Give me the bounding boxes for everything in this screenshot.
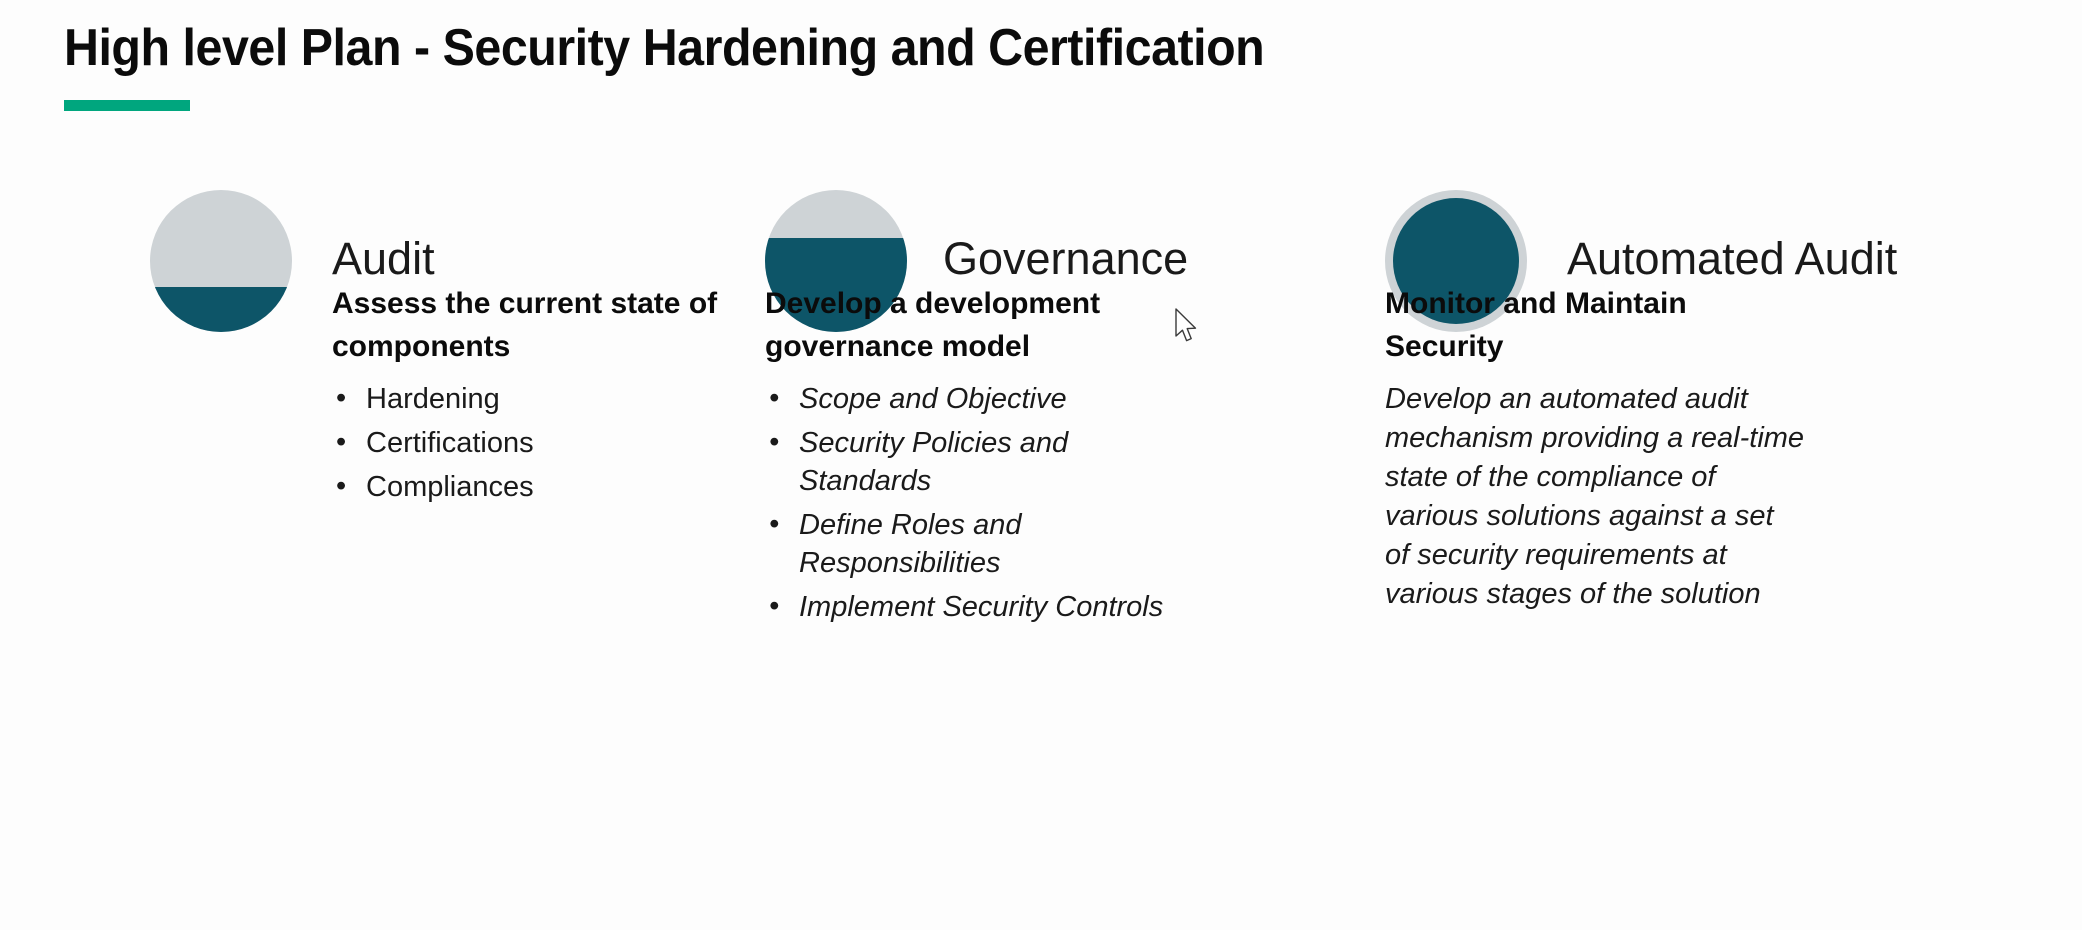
columns-container: Audit Assess the current state of compon… [0,190,2082,890]
column-subheading: Monitor and Maintain Security [1385,282,1785,368]
bullet-list: Hardening Certifications Compliances [332,380,762,506]
column-body: Scope and Objective Security Policies an… [765,380,1195,632]
list-item: Define Roles and Responsibilities [765,506,1195,582]
column-paragraph: Develop an automated audit mechanism pro… [1385,380,1805,614]
list-item: Hardening [332,380,762,418]
page-title: High level Plan - Security Hardening and… [64,18,1645,78]
column-heading: Automated Audit [1567,232,1897,286]
slide-canvas: High level Plan - Security Hardening and… [0,0,2082,930]
list-item: Security Policies and Standards [765,424,1195,500]
column-subheading: Develop a development governance model [765,282,1185,368]
column-heading: Governance [943,232,1188,286]
bullet-list: Scope and Objective Security Policies an… [765,380,1195,626]
column-heading: Audit [332,232,435,286]
list-item: Scope and Objective [765,380,1195,418]
column-subheading: Assess the current state of components [332,282,752,368]
circle-progress-one-third-icon [150,190,292,332]
column-body: Hardening Certifications Compliances [332,380,762,512]
list-item: Implement Security Controls [765,588,1195,626]
title-accent-rule [64,100,190,111]
list-item: Compliances [332,468,762,506]
list-item: Certifications [332,424,762,462]
column-body: Develop an automated audit mechanism pro… [1385,380,1805,614]
title-block: High level Plan - Security Hardening and… [64,18,1764,111]
